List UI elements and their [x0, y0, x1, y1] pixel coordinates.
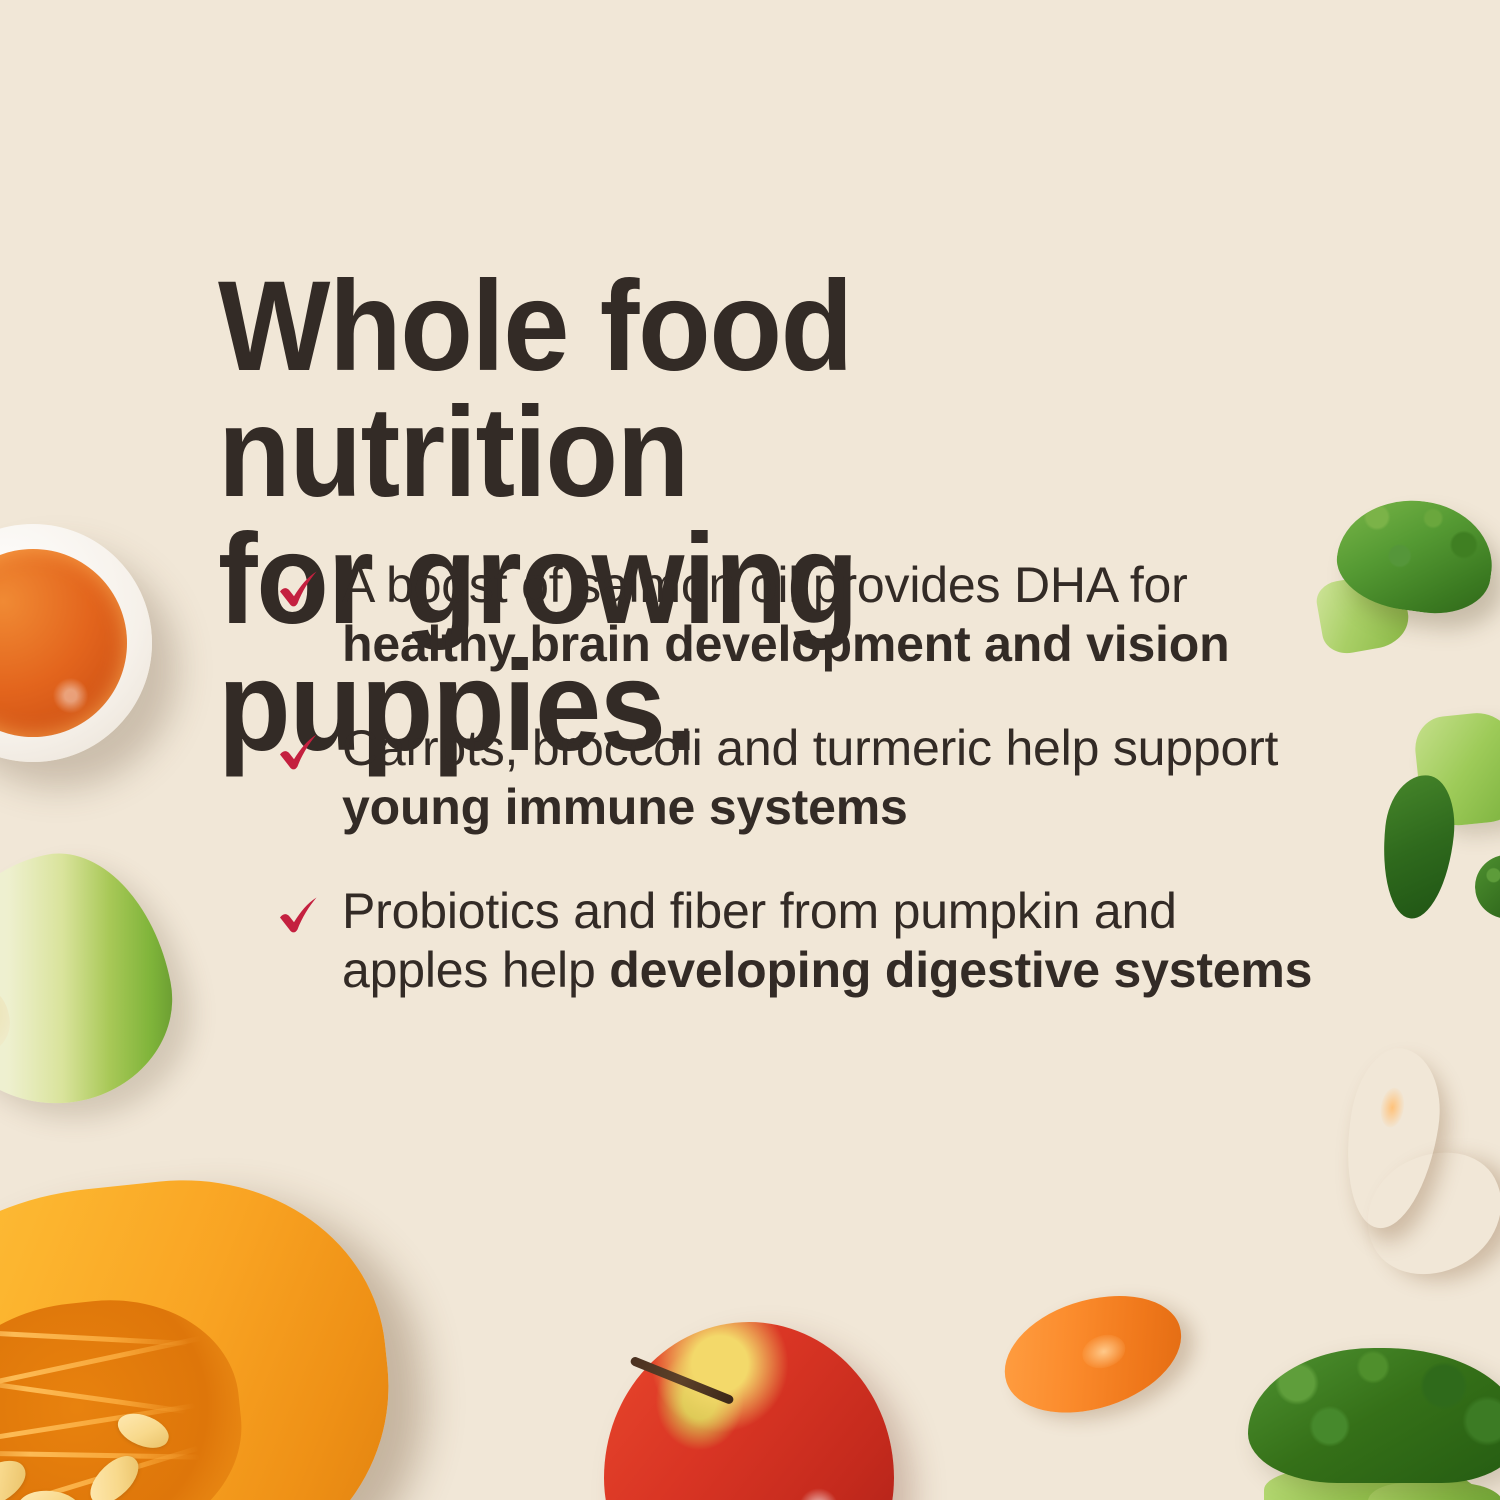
list-item-text: Carrots, broccoli and turmeric help supp… — [342, 719, 1316, 836]
list-item-emphasis: healthy brain development and vision — [342, 616, 1229, 672]
check-icon — [276, 729, 322, 781]
check-icon — [276, 892, 322, 944]
list-item-emphasis: young immune systems — [342, 779, 908, 835]
list-item-text: Probiotics and fiber from pumpkin and ap… — [342, 882, 1316, 999]
copy-block: Whole food nutrition for growing puppies… — [0, 0, 1500, 1500]
list-item-lead: A boost of salmon oil provides DHA for — [342, 557, 1188, 613]
list-item: A boost of salmon oil provides DHA for h… — [276, 556, 1316, 673]
list-item-text: A boost of salmon oil provides DHA for h… — [342, 556, 1316, 673]
benefit-list: A boost of salmon oil provides DHA for h… — [276, 556, 1316, 999]
list-item: Probiotics and fiber from pumpkin and ap… — [276, 882, 1316, 999]
list-item-lead: Carrots, broccoli and turmeric help supp… — [342, 720, 1278, 776]
list-item-emphasis: developing digestive systems — [609, 942, 1312, 998]
product-feature-panel: Whole food nutrition for growing puppies… — [0, 0, 1500, 1500]
list-item: Carrots, broccoli and turmeric help supp… — [276, 719, 1316, 836]
check-icon — [276, 566, 322, 618]
